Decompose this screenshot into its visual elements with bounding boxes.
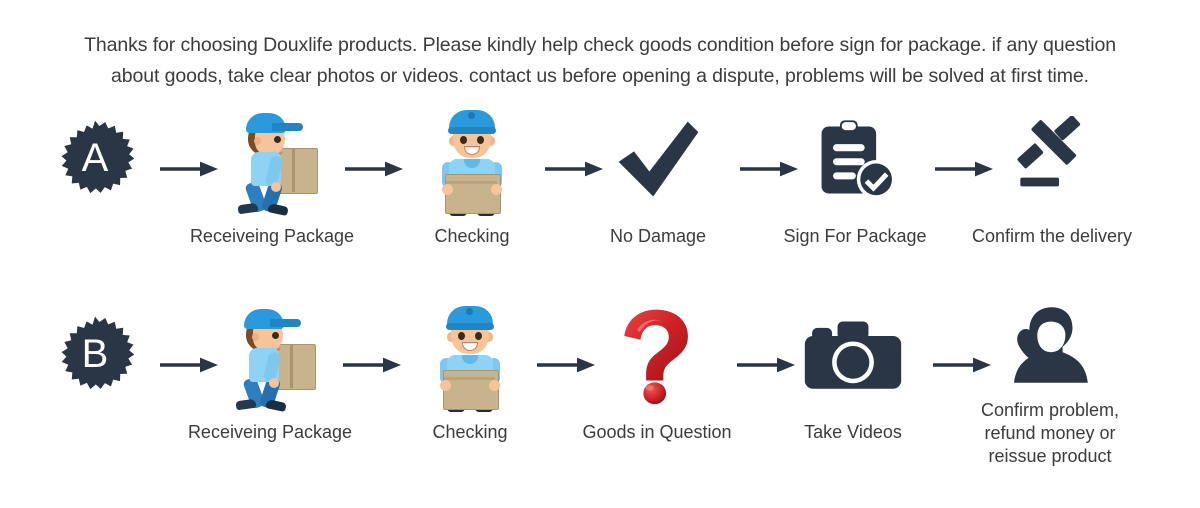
step-label-a-5: Confirm the delivery bbox=[972, 225, 1132, 247]
intro-line-1: Thanks for choosing Douxlife products. P… bbox=[52, 30, 1148, 61]
badge-b-icon: B bbox=[54, 315, 136, 397]
step-label-b-2: Checking bbox=[432, 421, 507, 443]
intro-line-2: about goods, take clear photos or videos… bbox=[52, 61, 1148, 92]
gavel-icon bbox=[1008, 116, 1096, 204]
step-label-b-1: Receiveing Package bbox=[188, 421, 352, 443]
standing-courier-icon bbox=[422, 300, 518, 412]
step-label-b-3: Goods in Question bbox=[582, 421, 731, 443]
step-label-a-4: Sign For Package bbox=[783, 225, 926, 247]
question-mark-icon bbox=[611, 306, 703, 406]
flow-row-b: B bbox=[0, 298, 1200, 468]
step-label-b-5: Confirm problem, refund money or reissue… bbox=[955, 399, 1145, 468]
badge-a-icon: A bbox=[54, 119, 136, 201]
badge-b-letter: B bbox=[54, 315, 136, 397]
flow-row-a: A bbox=[0, 102, 1200, 272]
badge-a-letter: A bbox=[54, 119, 136, 201]
clipboard-check-icon bbox=[811, 116, 899, 204]
step-label-a-3: No Damage bbox=[610, 225, 706, 247]
intro-notice: Thanks for choosing Douxlife products. P… bbox=[0, 0, 1200, 92]
standing-courier-icon bbox=[424, 104, 520, 216]
step-label-b-4: Take Videos bbox=[804, 421, 902, 443]
step-label-a-1: Receiveing Package bbox=[190, 225, 354, 247]
support-agent-icon bbox=[1005, 300, 1095, 390]
walking-courier-icon bbox=[222, 300, 318, 412]
walking-courier-icon bbox=[224, 104, 320, 216]
step-label-a-2: Checking bbox=[434, 225, 509, 247]
checkmark-icon bbox=[610, 112, 706, 208]
camera-icon bbox=[803, 319, 903, 393]
